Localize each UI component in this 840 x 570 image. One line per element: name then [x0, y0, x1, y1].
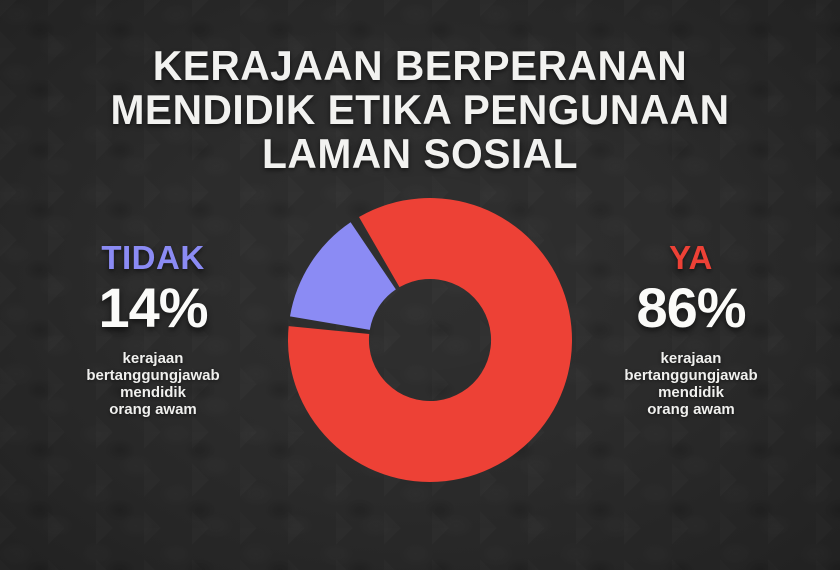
stat-percent-ya: 86% [566, 278, 816, 338]
stat-block-tidak: TIDAK 14% kerajaan bertanggungjawab mend… [28, 240, 278, 418]
stat-desc-line-2: bertanggungjawab [566, 367, 816, 384]
stat-desc-line-3: mendidik [566, 384, 816, 401]
stat-label-ya: YA [566, 240, 816, 276]
title-line-2: MENDIDIK ETIKA PENGUNAAN [13, 88, 828, 132]
donut-chart [288, 198, 572, 482]
stat-percent-tidak: 14% [28, 278, 278, 338]
infographic-poster: KERAJAAN BERPERANAN MENDIDIK ETIKA PENGU… [0, 0, 840, 570]
stat-desc-line-3: mendidik [28, 384, 278, 401]
stat-desc-line-4: orang awam [28, 401, 278, 418]
donut-chart-svg [288, 198, 572, 482]
stat-label-tidak: TIDAK [28, 240, 278, 276]
stat-block-ya: YA 86% kerajaan bertanggungjawab mendidi… [566, 240, 816, 418]
stat-desc-line-1: kerajaan [566, 350, 816, 367]
stat-desc-line-1: kerajaan [28, 350, 278, 367]
title-line-1: KERAJAAN BERPERANAN [13, 44, 828, 88]
donut-slices [288, 198, 572, 482]
stat-desc-line-2: bertanggungjawab [28, 367, 278, 384]
page-title: KERAJAAN BERPERANAN MENDIDIK ETIKA PENGU… [0, 44, 840, 176]
stat-description-ya: kerajaan bertanggungjawab mendidik orang… [566, 350, 816, 418]
stat-description-tidak: kerajaan bertanggungjawab mendidik orang… [28, 350, 278, 418]
stat-desc-line-4: orang awam [566, 401, 816, 418]
title-line-3: LAMAN SOSIAL [13, 132, 828, 176]
